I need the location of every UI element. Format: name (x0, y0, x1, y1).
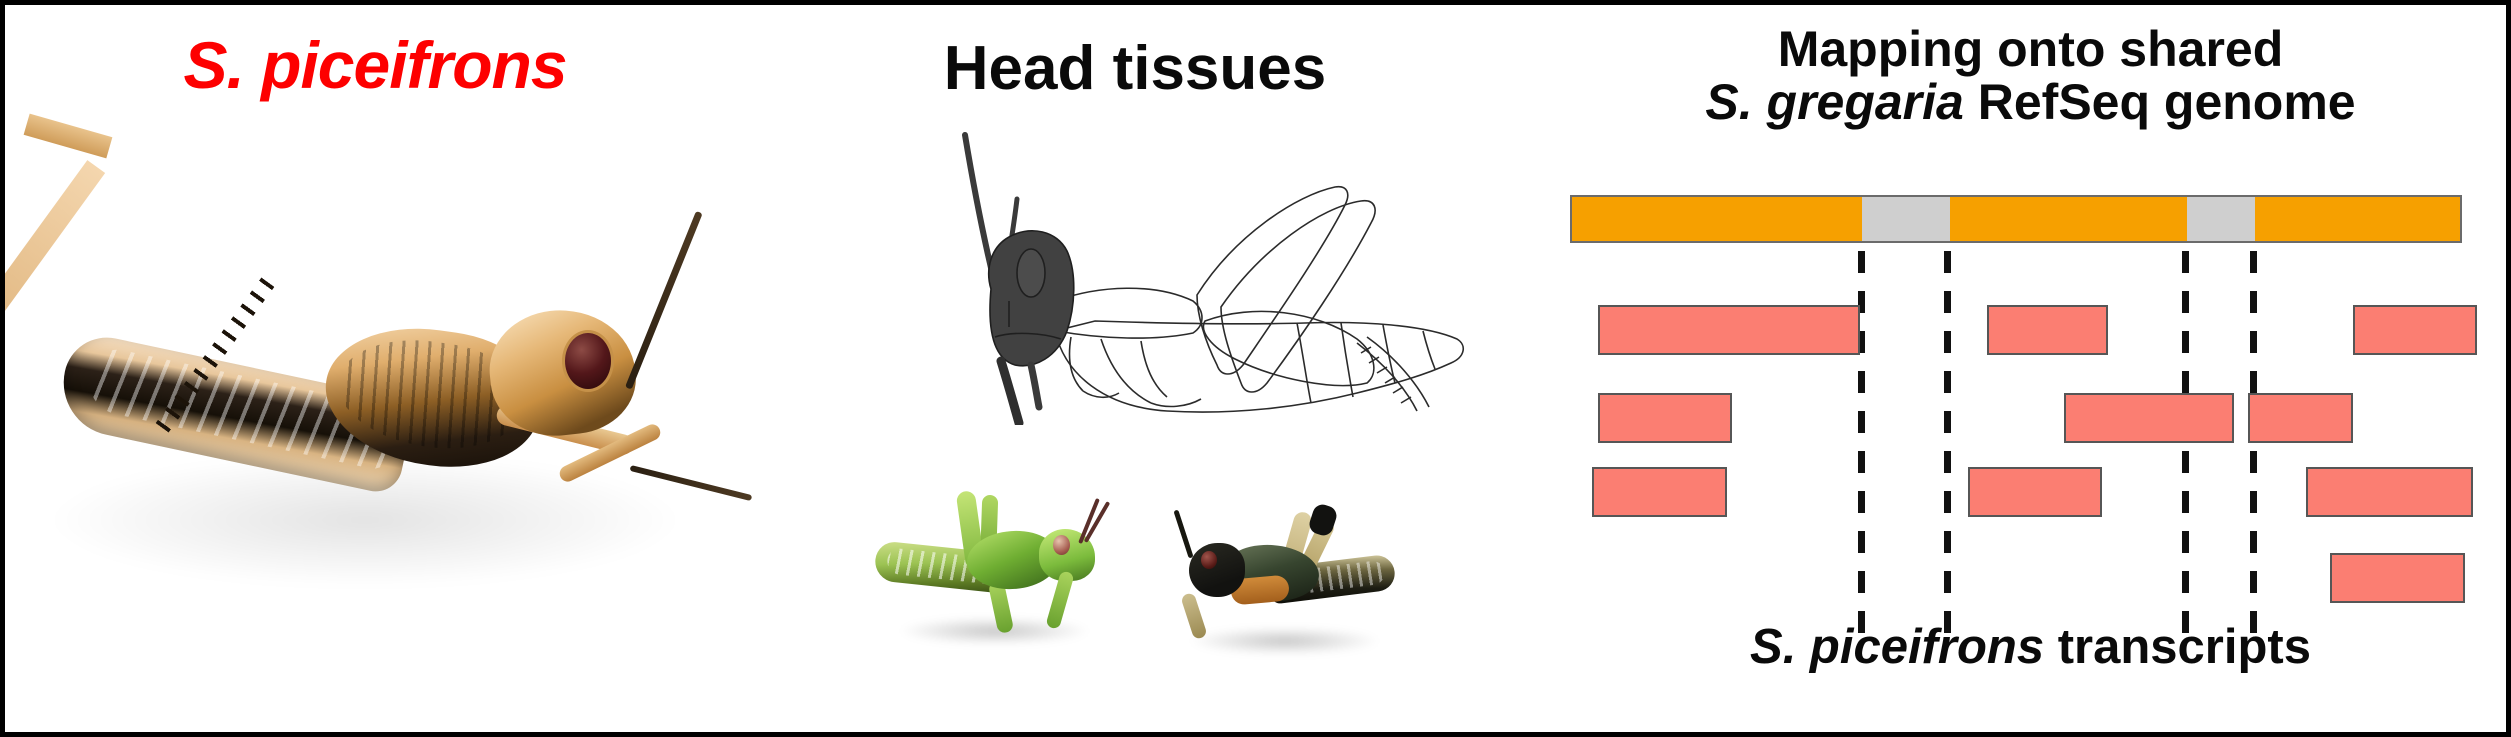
mapping-title-refseq: RefSeq genome (1978, 74, 2356, 130)
transcript-block (2064, 393, 2234, 443)
locust-antenna-upper (625, 211, 703, 390)
guide-line-3 (2182, 251, 2189, 643)
transcripts-caption-rest: transcripts (2058, 620, 2311, 674)
nymph-dark-foreleg (1180, 592, 1208, 640)
transcript-block (2306, 467, 2473, 517)
locust-compound-eye (565, 333, 611, 389)
transcript-block (2353, 305, 2477, 355)
species-title: S. piceifrons (5, 27, 745, 103)
transcript-block (1968, 467, 2102, 517)
transcript-block (1598, 393, 1732, 443)
transcripts-caption: S. piceifrons transcripts (1545, 619, 2511, 675)
locust-line-drawing-with-shaded-head (905, 125, 1525, 425)
transcript-block (1592, 467, 1727, 517)
locust-hind-tarsus (24, 114, 113, 159)
mapping-title: Mapping onto shared S. gregaria RefSeq g… (1545, 23, 2511, 129)
transcripts-caption-species: S. piceifrons (1750, 620, 2044, 674)
head-tissues-title: Head tissues (845, 33, 1425, 104)
genome-gap-2 (2187, 197, 2255, 241)
dark-gregarious-nymph-photo (1165, 505, 1395, 645)
nymph-dark-eye (1201, 551, 1217, 569)
nymph-shadow-dark (1188, 627, 1381, 655)
adult-locust-photo (25, 125, 815, 705)
guide-line-2 (1944, 251, 1951, 643)
panel-species: S. piceifrons (5, 5, 845, 732)
mapping-title-line1: Mapping onto shared (1545, 23, 2511, 76)
locust-femur-marking-1 (19, 564, 59, 616)
figure-container: S. piceifrons Head tissues (0, 0, 2511, 737)
transcript-block (2248, 393, 2353, 443)
mapping-title-line2: S. gregaria RefSeq genome (1545, 76, 2511, 129)
mapping-title-species: S. gregaria (1705, 74, 1963, 130)
reference-genome-bar (1570, 195, 2462, 243)
nymph-dark-antenna (1173, 509, 1193, 558)
guide-line-4 (2250, 251, 2257, 643)
transcript-block (2330, 553, 2465, 603)
panel-head-tissues: Head tissues (845, 5, 1545, 732)
locust-hind-tibia (0, 160, 105, 339)
genome-gap-1 (1862, 197, 1950, 241)
locust-hind-femur-right (17, 612, 67, 737)
nymph-dark-knee-marking (1307, 502, 1339, 538)
shaded-head-region (989, 231, 1074, 423)
green-solitarious-nymph-photo (875, 485, 1105, 635)
nymph-green-eye (1053, 535, 1070, 555)
panel-mapping-diagram: Mapping onto shared S. gregaria RefSeq g… (1545, 5, 2511, 732)
transcript-block (1987, 305, 2108, 355)
transcript-block (1598, 305, 1860, 355)
nymph-shadow-green (898, 617, 1091, 645)
nymph-dark-head (1189, 543, 1245, 597)
